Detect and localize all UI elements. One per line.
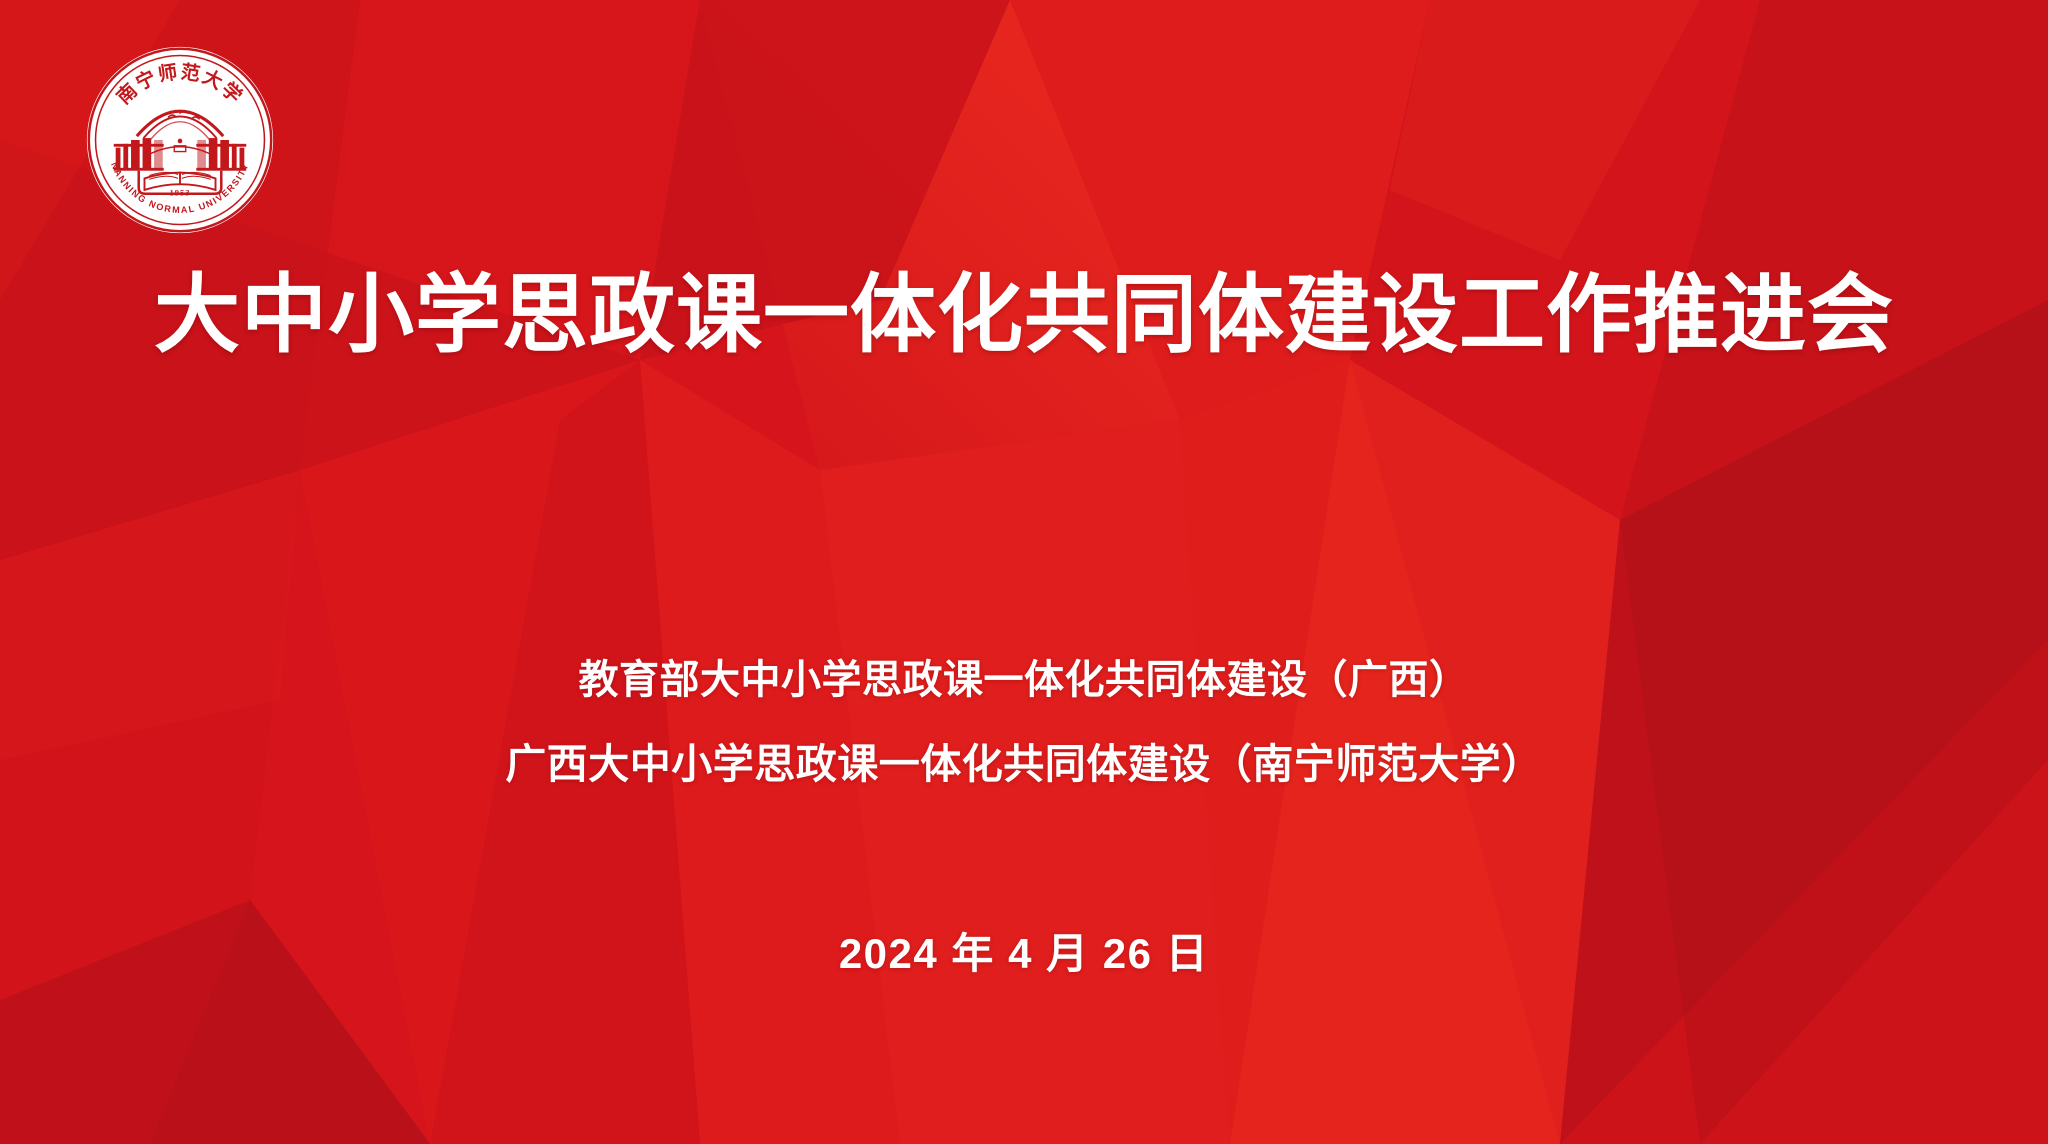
- subtitle-block: 教育部大中小学思政课一体化共同体建设（广西） 广西大中小学思政课一体化共同体建设…: [0, 660, 2048, 785]
- conference-backdrop-slide: 南宁师范大学 NANNING NORMAL UNIVERSITY —1953—: [0, 0, 2048, 1144]
- subtitle-line-1: 教育部大中小学思政课一体化共同体建设（广西）: [0, 660, 2048, 700]
- page-title: 大中小学思政课一体化共同体建设工作推进会: [0, 272, 2048, 358]
- subtitle-line-2: 广西大中小学思政课一体化共同体建设（南宁师范大学）: [0, 744, 2048, 785]
- slide-text-layer: 大中小学思政课一体化共同体建设工作推进会 教育部大中小学思政课一体化共同体建设（…: [0, 0, 2048, 1144]
- event-date: 2024 年 4 月 26 日: [0, 920, 2048, 981]
